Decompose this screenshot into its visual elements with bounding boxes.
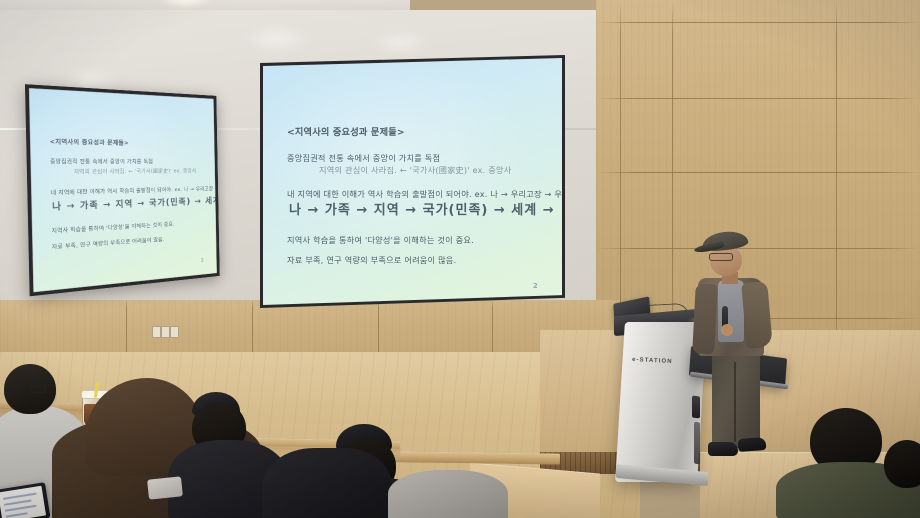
presenter-shoe — [708, 442, 738, 456]
presenter-arm-right — [741, 281, 773, 349]
glasses-icon — [30, 386, 46, 393]
slide-line-1: 중앙집권적 전통 속에서 중앙이 가치를 독점 — [287, 152, 440, 164]
slide-line-3: 내 지역에 대한 이해가 역사 학습의 출발점이 되어야. ex. 나 → 우리… — [287, 188, 562, 200]
primary-screen-surface: <지역사의 중요성과 문제들> 중앙집권적 전통 속에서 중앙이 가치를 독점 … — [263, 58, 562, 305]
ceiling-light-icon — [160, 0, 212, 8]
list-item — [884, 440, 920, 488]
secondary-slide-text: <지역사의 중요성과 문제들> 중앙집권적 전통 속에서 중앙이 가치를 독점 … — [29, 88, 217, 292]
presenter-legs — [712, 350, 760, 448]
primary-slide-text: <지역사의 중요성과 문제들> 중앙집권적 전통 속에서 중앙이 가치를 독점 … — [263, 58, 562, 305]
slide-title: <지역사의 중요성과 문제들> — [287, 126, 405, 140]
tablet-device[interactable] — [0, 482, 50, 518]
wall-switch-plate[interactable] — [152, 326, 161, 338]
list-item — [262, 448, 392, 518]
slide-line-2: 지역의 관심이 사라짐. ← '국가사(國家史)' ex. 중앙사 — [74, 168, 197, 177]
slide-line-5: 지역사 학습을 통하여 '다양성'을 이해하는 것이 중요. — [287, 234, 474, 246]
slide-line-6: 자료 부족, 연구 역량의 부족으로 어려움이 많음. — [287, 254, 456, 266]
secondary-projection-screen[interactable]: <지역사의 중요성과 문제들> 중앙집권적 전통 속에서 중앙이 가치를 독점 … — [25, 84, 220, 296]
list-item — [388, 470, 508, 518]
slide-line-2: 지역의 관심이 사라짐. ← '국가사(國家史)' ex. 중앙사 — [319, 164, 511, 176]
lecture-hall-scene: <지역사의 중요성과 문제들> 중앙집권적 전통 속에서 중앙이 가치를 독점 … — [0, 0, 920, 518]
glasses-icon — [709, 253, 733, 261]
slide-line-6: 자료 부족, 연구 역량의 부족으로 어려움이 많음. — [52, 237, 165, 253]
wall-switch-plate[interactable] — [161, 326, 170, 338]
smartphone[interactable] — [147, 476, 183, 499]
tablet-screen — [0, 486, 46, 518]
slide-title: <지역사의 중요성과 문제들> — [49, 138, 129, 148]
slide-page-number: 2 — [201, 259, 204, 266]
presenter-shoe — [738, 437, 767, 452]
slide-page-number: 2 — [533, 281, 538, 292]
primary-projection-screen[interactable]: <지역사의 중요성과 문제들> 중앙집권적 전통 속에서 중앙이 가치를 독점 … — [260, 55, 565, 308]
slide-line-5: 지역사 학습을 통하여 '다양성'을 이해하는 것이 중요. — [51, 221, 174, 236]
presenter-arm-left — [692, 283, 718, 354]
presenter-figure — [686, 232, 786, 482]
slide-line-4: 나 → 가족 → 지역 → 국가(민족) → 세계 → — [289, 201, 555, 221]
wall-switch-plate[interactable] — [170, 326, 179, 338]
presenter-hand — [721, 324, 733, 336]
slide-line-1: 중앙집권적 전통 속에서 중앙이 가치를 독점 — [50, 159, 153, 168]
secondary-screen-surface: <지역사의 중요성과 문제들> 중앙집권적 전통 속에서 중앙이 가치를 독점 … — [29, 88, 217, 292]
